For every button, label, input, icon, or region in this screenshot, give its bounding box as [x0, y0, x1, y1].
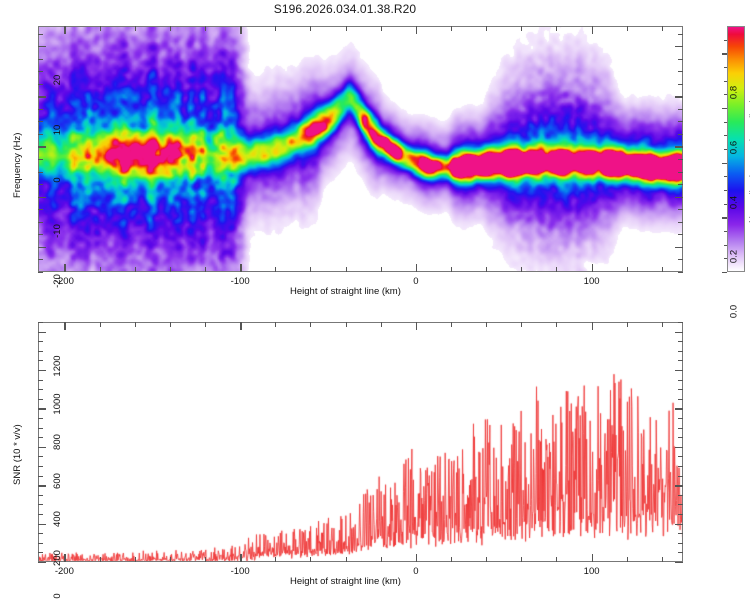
y-minor-tick-right — [678, 59, 683, 60]
x-minor-tick-top — [381, 26, 382, 31]
y-minor-tick-right — [678, 351, 683, 352]
x-minor-tick-top — [662, 26, 663, 31]
y-minor-tick — [38, 341, 43, 342]
y-minor-tick-right — [678, 222, 683, 223]
x-tick-label: 100 — [572, 276, 612, 287]
y-minor-tick — [38, 514, 43, 515]
figure-title: S196.2026.034.01.38.R20 — [0, 2, 690, 16]
snr-y-axis-label: SNR (10 * v/v) — [12, 424, 23, 485]
x-minor-tick — [170, 267, 171, 272]
y-minor-tick-right — [678, 380, 683, 381]
colorbar-minor-tick — [724, 94, 727, 95]
x-major-tick-top — [592, 26, 593, 34]
y-minor-tick-right — [678, 495, 683, 496]
colorbar-minor-tick — [724, 204, 727, 205]
colorbar-minor-tick — [724, 67, 727, 68]
y-minor-tick-right — [678, 428, 683, 429]
y-minor-tick-right — [678, 209, 683, 210]
y-major-tick-right — [675, 96, 683, 97]
y-major-tick-right — [675, 447, 683, 448]
y-major-tick-right — [675, 46, 683, 47]
x-minor-tick-top — [135, 26, 136, 31]
y-minor-tick-right — [678, 71, 683, 72]
y-tick-label: 200 — [52, 538, 63, 578]
y-major-tick — [38, 96, 46, 97]
x-minor-tick — [486, 557, 487, 562]
y-minor-tick-right — [678, 418, 683, 419]
y-major-tick-right — [675, 485, 683, 486]
colorbar-minor-tick — [724, 245, 727, 246]
y-major-tick — [38, 146, 46, 147]
x-minor-tick — [205, 557, 206, 562]
y-major-tick-right — [675, 408, 683, 409]
colorbar-tick-label: 0.6 — [729, 128, 740, 168]
x-tick-label: -100 — [220, 276, 260, 287]
y-tick-label: 0 — [52, 160, 63, 200]
y-tick-label: 0 — [52, 576, 63, 616]
colorbar-tick-label: 0.8 — [729, 73, 740, 113]
x-major-tick — [64, 554, 65, 562]
y-tick-label: 800 — [52, 422, 63, 462]
y-minor-tick — [38, 184, 43, 185]
y-minor-tick-right — [678, 437, 683, 438]
y-tick-label: 1200 — [52, 346, 63, 386]
x-minor-tick-top — [346, 26, 347, 31]
y-major-tick-right — [675, 247, 683, 248]
colorbar-minor-tick — [724, 40, 727, 41]
x-minor-tick-top — [556, 322, 557, 327]
x-minor-tick — [100, 267, 101, 272]
x-minor-tick-top — [451, 322, 452, 327]
y-major-tick-right — [675, 146, 683, 147]
snr-plot-area — [38, 322, 683, 562]
x-minor-tick-top — [451, 26, 452, 31]
y-major-tick — [38, 408, 46, 409]
y-minor-tick-right — [678, 533, 683, 534]
x-minor-tick — [346, 557, 347, 562]
x-major-tick — [592, 554, 593, 562]
y-minor-tick-right — [678, 172, 683, 173]
y-minor-tick — [38, 552, 43, 553]
x-minor-tick-top — [100, 322, 101, 327]
x-minor-tick-top — [275, 322, 276, 327]
x-minor-tick-top — [556, 26, 557, 31]
x-minor-tick-top — [205, 322, 206, 327]
y-minor-tick-right — [678, 234, 683, 235]
y-minor-tick — [38, 121, 43, 122]
spectrogram-canvas — [39, 27, 683, 272]
x-minor-tick — [346, 267, 347, 272]
y-minor-tick-right — [678, 504, 683, 505]
colorbar-tick-label: 0.0 — [729, 292, 740, 332]
colorbar-minor-tick — [724, 81, 727, 82]
x-major-tick — [416, 554, 417, 562]
y-tick-label: 10 — [52, 110, 63, 150]
y-minor-tick — [38, 109, 43, 110]
colorbar-minor-tick — [724, 217, 727, 218]
x-major-tick — [240, 264, 241, 272]
y-major-tick — [38, 447, 46, 448]
y-minor-tick — [38, 543, 43, 544]
y-minor-tick-right — [678, 543, 683, 544]
x-minor-tick — [451, 557, 452, 562]
y-major-tick — [38, 562, 46, 563]
x-minor-tick — [521, 557, 522, 562]
x-minor-tick-top — [486, 322, 487, 327]
x-minor-tick-top — [346, 322, 347, 327]
y-major-tick — [38, 485, 46, 486]
x-major-tick-top — [416, 26, 417, 34]
x-minor-tick — [662, 267, 663, 272]
colorbar-minor-tick — [724, 108, 727, 109]
y-minor-tick — [38, 351, 43, 352]
x-minor-tick — [627, 557, 628, 562]
y-minor-tick — [38, 71, 43, 72]
y-minor-tick — [38, 466, 43, 467]
x-minor-tick-top — [521, 322, 522, 327]
y-minor-tick — [38, 399, 43, 400]
x-minor-tick-top — [310, 26, 311, 31]
colorbar-tick-label: 0.4 — [729, 182, 740, 222]
y-minor-tick — [38, 360, 43, 361]
x-minor-tick — [205, 267, 206, 272]
x-major-tick-top — [240, 26, 241, 34]
x-minor-tick-top — [310, 322, 311, 327]
y-minor-tick-right — [678, 34, 683, 35]
y-tick-label: 1000 — [52, 384, 63, 424]
colorbar-minor-tick — [724, 53, 727, 54]
y-minor-tick-right — [678, 456, 683, 457]
x-minor-tick — [486, 267, 487, 272]
x-minor-tick — [381, 267, 382, 272]
y-minor-tick — [38, 59, 43, 60]
x-tick-label: 0 — [396, 566, 436, 577]
y-minor-tick-right — [678, 341, 683, 342]
spectrogram-y-axis-label: Frequency (Hz) — [12, 133, 23, 198]
y-minor-tick-right — [678, 322, 683, 323]
x-minor-tick — [100, 557, 101, 562]
x-major-tick — [416, 264, 417, 272]
y-minor-tick-right — [678, 184, 683, 185]
y-minor-tick-right — [678, 84, 683, 85]
y-major-tick — [38, 370, 46, 371]
x-major-tick-top — [592, 322, 593, 330]
x-minor-tick-top — [100, 26, 101, 31]
x-minor-tick-top — [275, 26, 276, 31]
y-major-tick-right — [675, 332, 683, 333]
x-major-tick-top — [416, 322, 417, 330]
x-minor-tick — [170, 557, 171, 562]
y-minor-tick — [38, 428, 43, 429]
y-minor-tick — [38, 456, 43, 457]
y-minor-tick-right — [678, 360, 683, 361]
colorbar-minor-tick — [724, 258, 727, 259]
x-minor-tick — [556, 557, 557, 562]
x-minor-tick — [135, 557, 136, 562]
x-minor-tick-top — [135, 322, 136, 327]
y-minor-tick — [38, 159, 43, 160]
y-minor-tick — [38, 437, 43, 438]
figure-root: S196.2026.034.01.38.R20 Frequency (Hz) H… — [0, 0, 750, 600]
y-minor-tick — [38, 209, 43, 210]
y-minor-tick — [38, 259, 43, 260]
y-minor-tick — [38, 495, 43, 496]
y-major-tick — [38, 46, 46, 47]
x-major-tick — [592, 264, 593, 272]
colorbar-tick-label: 0.2 — [729, 237, 740, 277]
y-tick-label: -10 — [52, 211, 63, 251]
spectrogram-plot-area — [38, 26, 683, 272]
spectrogram-x-axis-label: Height of straight line (km) — [290, 286, 401, 297]
y-minor-tick-right — [678, 466, 683, 467]
y-minor-tick — [38, 504, 43, 505]
y-minor-tick — [38, 84, 43, 85]
x-minor-tick — [521, 267, 522, 272]
y-major-tick-right — [675, 524, 683, 525]
snr-canvas — [39, 323, 683, 562]
y-minor-tick-right — [678, 514, 683, 515]
y-minor-tick-right — [678, 272, 683, 273]
y-major-tick-right — [675, 197, 683, 198]
y-minor-tick — [38, 172, 43, 173]
x-minor-tick — [662, 557, 663, 562]
x-minor-tick-top — [627, 322, 628, 327]
y-major-tick — [38, 524, 46, 525]
colorbar-minor-tick — [724, 135, 727, 136]
y-minor-tick-right — [678, 399, 683, 400]
y-minor-tick — [38, 380, 43, 381]
x-major-tick-top — [240, 322, 241, 330]
y-minor-tick — [38, 533, 43, 534]
snr-x-axis-label: Height of straight line (km) — [290, 576, 401, 587]
x-minor-tick — [310, 267, 311, 272]
y-minor-tick — [38, 389, 43, 390]
y-major-tick-right — [675, 562, 683, 563]
x-minor-tick — [381, 557, 382, 562]
x-tick-label: -200 — [44, 566, 84, 577]
x-minor-tick — [627, 267, 628, 272]
y-minor-tick-right — [678, 259, 683, 260]
colorbar-minor-tick — [724, 190, 727, 191]
x-minor-tick-top — [627, 26, 628, 31]
colorbar-minor-tick — [724, 231, 727, 232]
y-minor-tick — [38, 222, 43, 223]
x-minor-tick-top — [521, 26, 522, 31]
x-minor-tick-top — [170, 322, 171, 327]
x-minor-tick — [451, 267, 452, 272]
y-minor-tick-right — [678, 109, 683, 110]
colorbar-minor-tick — [724, 163, 727, 164]
x-tick-label: 100 — [572, 566, 612, 577]
y-major-tick — [38, 197, 46, 198]
x-major-tick-top — [64, 26, 65, 34]
x-minor-tick — [135, 267, 136, 272]
x-tick-label: 0 — [396, 276, 436, 287]
y-minor-tick-right — [678, 389, 683, 390]
y-minor-tick-right — [678, 134, 683, 135]
x-minor-tick-top — [381, 322, 382, 327]
colorbar-minor-tick — [724, 176, 727, 177]
y-minor-tick — [38, 134, 43, 135]
x-minor-tick — [556, 267, 557, 272]
y-tick-label: 600 — [52, 461, 63, 501]
colorbar-minor-tick — [724, 122, 727, 123]
x-major-tick — [64, 264, 65, 272]
y-minor-tick-right — [678, 552, 683, 553]
y-minor-tick — [38, 34, 43, 35]
x-minor-tick-top — [662, 322, 663, 327]
x-tick-label: -200 — [44, 276, 84, 287]
colorbar-minor-tick — [724, 149, 727, 150]
x-minor-tick-top — [205, 26, 206, 31]
y-major-tick — [38, 332, 46, 333]
x-tick-label: -100 — [220, 566, 260, 577]
y-minor-tick-right — [678, 476, 683, 477]
y-minor-tick — [38, 322, 43, 323]
y-tick-label: -20 — [52, 261, 63, 301]
y-minor-tick — [38, 272, 43, 273]
y-tick-label: 20 — [52, 60, 63, 100]
x-minor-tick-top — [170, 26, 171, 31]
x-minor-tick — [275, 557, 276, 562]
x-major-tick — [240, 554, 241, 562]
y-minor-tick — [38, 418, 43, 419]
y-minor-tick — [38, 476, 43, 477]
x-minor-tick — [310, 557, 311, 562]
x-minor-tick — [275, 267, 276, 272]
colorbar-tick — [722, 272, 727, 273]
y-major-tick-right — [675, 370, 683, 371]
y-minor-tick-right — [678, 121, 683, 122]
y-tick-label: 400 — [52, 499, 63, 539]
x-minor-tick-top — [486, 26, 487, 31]
y-major-tick — [38, 247, 46, 248]
y-minor-tick-right — [678, 159, 683, 160]
y-minor-tick — [38, 234, 43, 235]
x-major-tick-top — [64, 322, 65, 330]
